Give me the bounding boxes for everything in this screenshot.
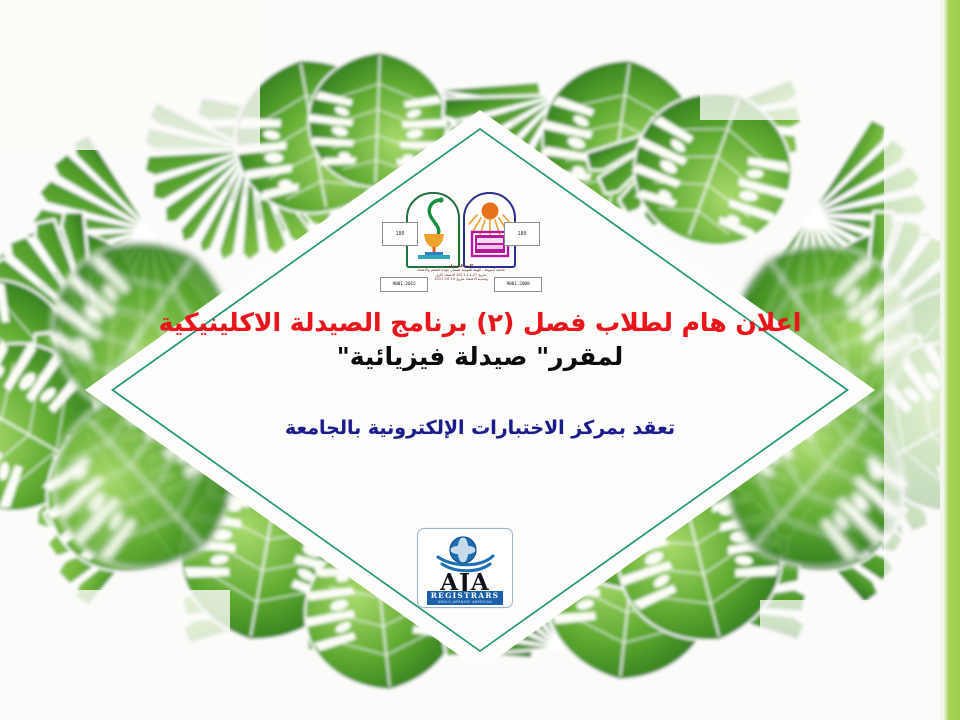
crest-badge-right: 180 bbox=[504, 222, 540, 246]
announcement-venue-note: تعقد بمركز الاختبارات الإلكترونية بالجام… bbox=[0, 416, 960, 440]
aja-banner: REGISTRARS ANGLO JAPANESE AMERICAN bbox=[427, 591, 503, 605]
globe-with-swoosh-icon bbox=[432, 535, 498, 573]
aja-banner-subtext: ANGLO JAPANESE AMERICAN bbox=[427, 600, 503, 604]
announcement-headline-red: اعلان هام لطلاب فصل (٢) برنامج الصيدلة ا… bbox=[0, 308, 960, 337]
announcement-text-block: اعلان هام لطلاب فصل (٢) برنامج الصيدلة ا… bbox=[0, 308, 960, 440]
crest-panels bbox=[406, 192, 516, 264]
right-edge-accent-strip bbox=[944, 0, 960, 720]
crest-caption-line2: جامعة أسيوط - الهيئة القومية لضمان جودة … bbox=[417, 268, 505, 272]
crest-caption-line3: بتاريخ 27-11-2011 الاعتماد الأول bbox=[435, 273, 486, 277]
announcement-course-title: لمقرر" صيدلة فيزيائية" bbox=[0, 342, 960, 372]
crest-caption: كلية الصيدلة جامعة أسيوط - الهيئة القومي… bbox=[408, 264, 514, 282]
university-crest: 180 180 9001:2015 9001:2008 كلية الصيدلة… bbox=[388, 192, 534, 292]
slide-content: 180 180 9001:2015 9001:2008 كلية الصيدلة… bbox=[0, 0, 960, 720]
announcement-slide: 180 180 9001:2015 9001:2008 كلية الصيدلة… bbox=[0, 0, 960, 720]
aja-registrars-logo: AJA REGISTRARS ANGLO JAPANESE AMERICAN bbox=[417, 528, 513, 608]
aja-banner-text: REGISTRARS bbox=[427, 591, 503, 600]
crest-caption-line4: وتجديد الاعتماد بتاريخ 19-10-2017 bbox=[434, 277, 487, 281]
crest-badge-left: 180 bbox=[382, 222, 418, 246]
